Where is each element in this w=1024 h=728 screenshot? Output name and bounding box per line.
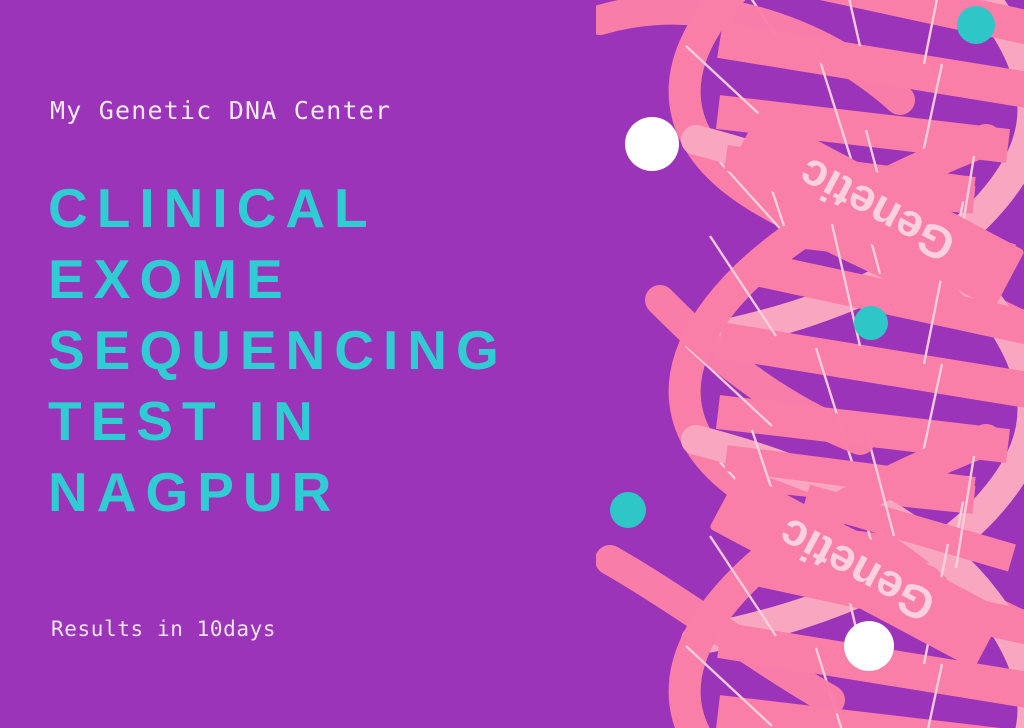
teal-dot-top-right	[957, 6, 995, 44]
white-dot-bottom	[844, 621, 894, 671]
page-title: CLINICAL EXOME SEQUENCING TEST IN NAGPUR	[48, 173, 608, 528]
headline-line-3: SEQUENCING	[48, 315, 608, 386]
brand-name: My Genetic DNA Center	[50, 96, 391, 125]
white-dot-upper-left	[625, 117, 679, 171]
headline-line-5: NAGPUR	[48, 457, 608, 528]
promo-banner: Genetic Genetic My Genetic DNA Center	[0, 0, 1024, 728]
tagline: Results in 10days	[51, 617, 276, 641]
text-column: My Genetic DNA Center CLINICAL EXOME SEQ…	[0, 0, 620, 728]
headline-line-4: TEST IN	[48, 386, 608, 457]
headline-line-1: CLINICAL	[48, 173, 608, 244]
teal-dot-middle	[854, 306, 888, 340]
headline-line-2: EXOME	[48, 244, 608, 315]
